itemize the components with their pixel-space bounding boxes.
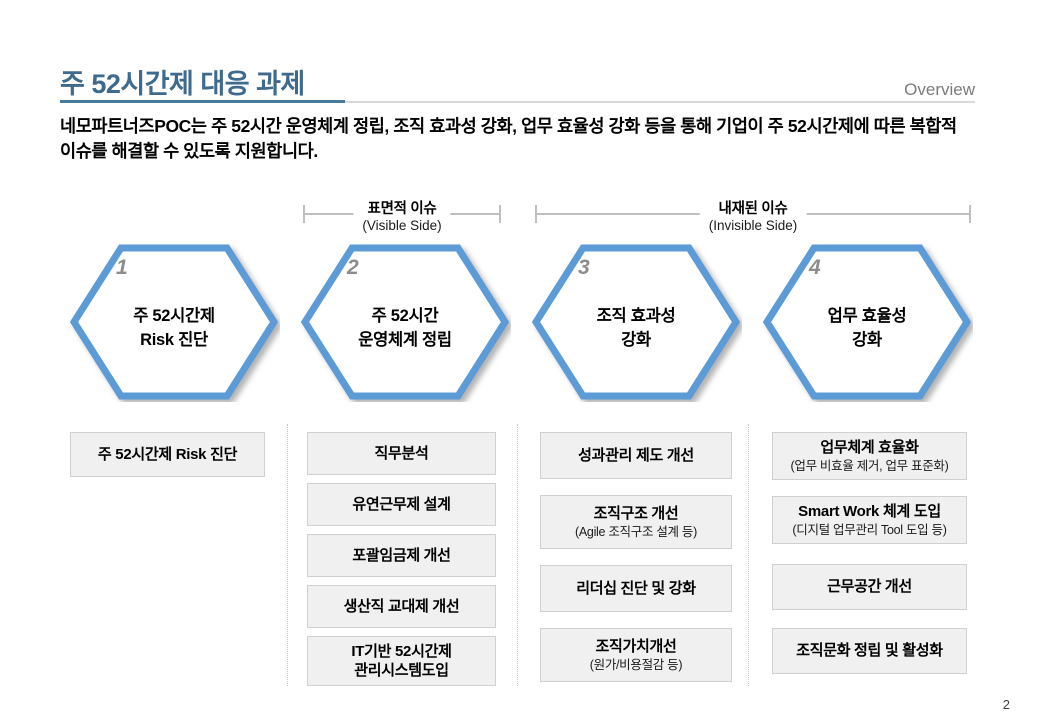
bracket-label-kr: 내재된 이슈 <box>709 201 798 218</box>
item-box-subtitle: (디지털 업무관리 Tool 도입 등) <box>792 522 946 538</box>
hexagon-label: 조직 효과성 강화 <box>530 242 742 402</box>
hexagon-label: 주 52시간 운영체계 정립 <box>299 242 511 402</box>
item-box-title: 직무분석 <box>374 444 428 464</box>
column-separator-1 <box>287 424 289 686</box>
bracket-visible-side: 표면적 이슈 (Visible Side) <box>303 203 501 225</box>
item-box-title: 유연근무제 설계 <box>352 495 450 515</box>
item-box-title: 조직가치개선 <box>595 637 676 657</box>
hexagon-label: 업무 효율성 강화 <box>761 242 973 402</box>
page-number: 2 <box>1003 697 1010 712</box>
item-box-title: 업무체계 효율화 <box>820 438 918 458</box>
item-box-c2-3[interactable]: 포괄임금제 개선 <box>307 534 496 577</box>
bracket-tick-right <box>499 205 501 223</box>
item-box-title: 조직구조 개선 <box>594 504 679 524</box>
item-box-c1-1[interactable]: 주 52시간제 Risk 진단 <box>70 432 265 477</box>
bracket-tick-left <box>303 205 305 223</box>
item-box-subtitle: (Agile 조직구조 설계 등) <box>575 524 697 540</box>
hexagon-2[interactable]: 2 주 52시간 운영체계 정립 <box>299 242 511 402</box>
item-box-title: Smart Work 체계 도입 <box>798 502 941 522</box>
item-box-c2-2[interactable]: 유연근무제 설계 <box>307 483 496 526</box>
bracket-tick-right <box>969 205 971 223</box>
bracket-label-en: (Visible Side) <box>362 218 441 235</box>
item-box-title: 성과관리 제도 개선 <box>578 446 694 466</box>
page-title: 주 52시간제 대응 과제 <box>60 62 305 101</box>
item-box-c3-4[interactable]: 조직가치개선 (원가/비용절감 등) <box>540 628 732 682</box>
item-box-c3-2[interactable]: 조직구조 개선 (Agile 조직구조 설계 등) <box>540 495 732 549</box>
item-box-c4-1[interactable]: 업무체계 효율화 (업무 비효율 제거, 업무 표준화) <box>772 432 967 480</box>
column-separator-2 <box>517 424 519 686</box>
item-box-subtitle: (원가/비용절감 등) <box>590 657 682 673</box>
bracket-label-kr: 표면적 이슈 <box>362 201 441 218</box>
item-box-title: IT기반 52시간제 관리시스템도입 <box>351 642 451 681</box>
item-box-c2-1[interactable]: 직무분석 <box>307 432 496 475</box>
item-box-title: 생산직 교대제 개선 <box>344 597 460 617</box>
bracket-invisible-side: 내재된 이슈 (Invisible Side) <box>535 203 971 225</box>
slide-canvas: 주 52시간제 대응 과제 Overview 네모파트너즈POC는 주 52시간… <box>0 0 1040 720</box>
item-box-title: 조직문화 정립 및 활성화 <box>796 641 943 661</box>
item-box-title: 주 52시간제 Risk 진단 <box>98 445 237 465</box>
title-underline-light <box>345 101 975 103</box>
bracket-label-en: (Invisible Side) <box>709 218 798 235</box>
item-box-c4-2[interactable]: Smart Work 체계 도입 (디지털 업무관리 Tool 도입 등) <box>772 496 967 544</box>
item-box-subtitle: (업무 비효율 제거, 업무 표준화) <box>791 458 949 474</box>
overview-label: Overview <box>904 80 975 100</box>
title-underline-dark <box>60 100 345 103</box>
item-box-c4-4[interactable]: 조직문화 정립 및 활성화 <box>772 628 967 674</box>
item-box-c3-3[interactable]: 리더십 진단 및 강화 <box>540 565 732 612</box>
bracket-label: 내재된 이슈 (Invisible Side) <box>700 201 807 235</box>
hexagon-label: 주 52시간제 Risk 진단 <box>68 242 280 402</box>
column-separator-3 <box>748 424 750 686</box>
subtitle-text: 네모파트너즈POC는 주 52시간 운영체계 정립, 조직 효과성 강화, 업무… <box>60 114 960 164</box>
hexagon-4[interactable]: 4 업무 효율성 강화 <box>761 242 973 402</box>
item-box-title: 근무공간 개선 <box>827 577 912 597</box>
hexagon-1[interactable]: 1 주 52시간제 Risk 진단 <box>68 242 280 402</box>
item-box-c2-5[interactable]: IT기반 52시간제 관리시스템도입 <box>307 636 496 686</box>
bracket-tick-left <box>535 205 537 223</box>
item-box-c3-1[interactable]: 성과관리 제도 개선 <box>540 432 732 479</box>
item-box-c4-3[interactable]: 근무공간 개선 <box>772 564 967 610</box>
bracket-label: 표면적 이슈 (Visible Side) <box>353 201 450 235</box>
item-box-title: 포괄임금제 개선 <box>352 546 450 566</box>
item-box-c2-4[interactable]: 생산직 교대제 개선 <box>307 585 496 628</box>
item-box-title: 리더십 진단 및 강화 <box>576 579 696 599</box>
hexagon-3[interactable]: 3 조직 효과성 강화 <box>530 242 742 402</box>
